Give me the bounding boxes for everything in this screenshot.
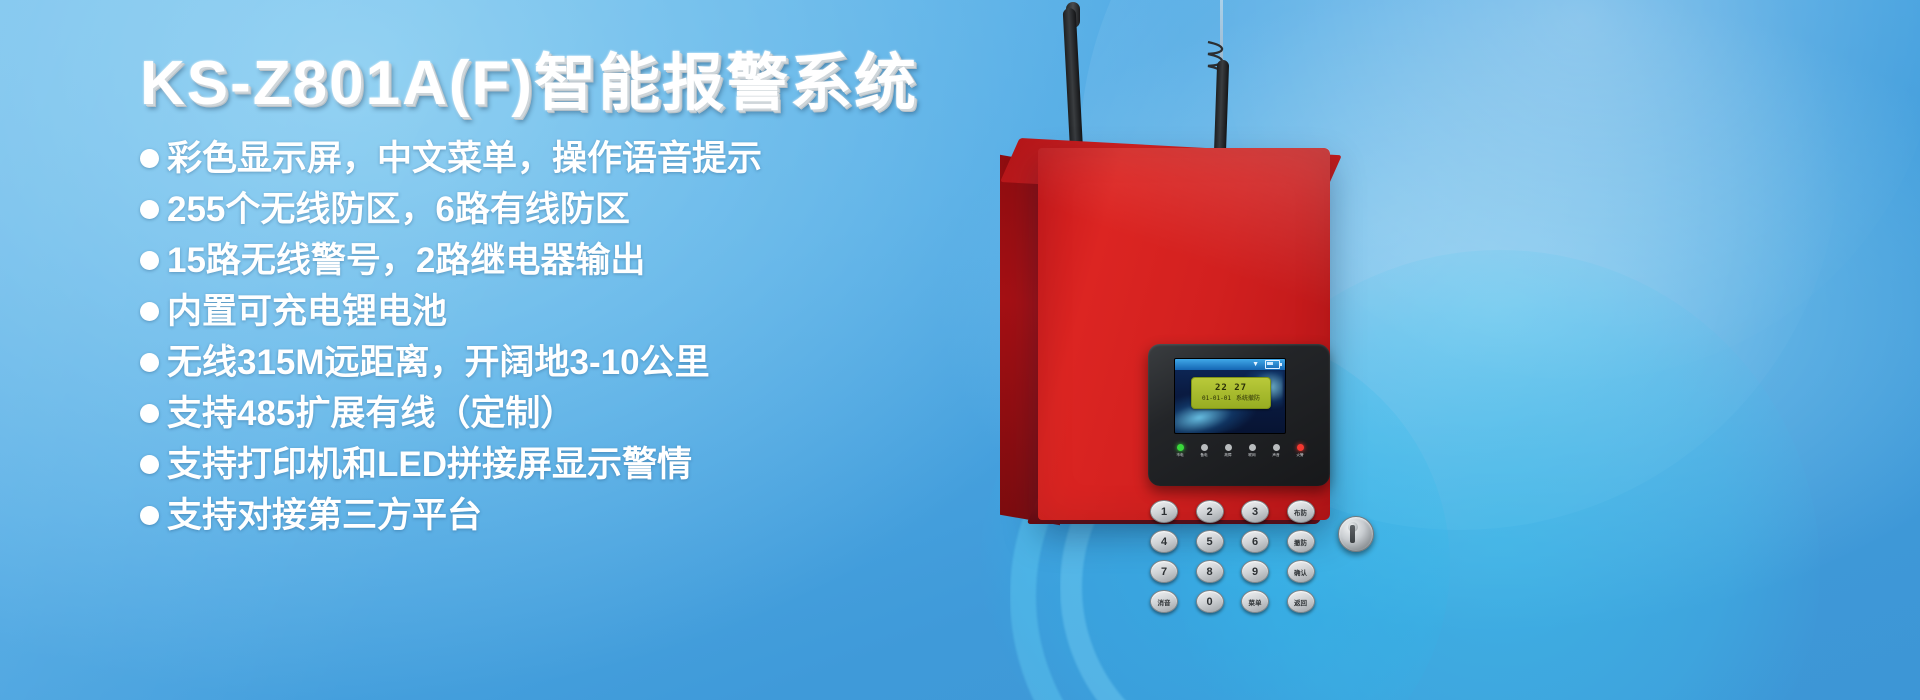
list-item: 255个无线防区，6路有线防区 (140, 192, 970, 227)
lcd-time: 22 27 (1215, 384, 1247, 393)
lcd-status-text: 系统撤防 (1236, 396, 1260, 402)
led-label: 备电 (1200, 454, 1207, 458)
led-indicator: 声音 (1266, 444, 1286, 458)
keypad-key-2[interactable]: 2 (1196, 500, 1224, 523)
led-label: 联网 (1248, 454, 1255, 458)
lock-keyhole-icon (1348, 522, 1358, 532)
led-network-icon (1249, 444, 1256, 451)
keypad-key-6[interactable]: 6 (1241, 530, 1269, 553)
signal-icon: ▼ (1252, 361, 1259, 368)
led-label: 市电 (1176, 454, 1183, 458)
bullet-dot-icon (140, 251, 159, 270)
lcd-wallpaper-swirl (1174, 376, 1269, 434)
keypad-key-confirm[interactable]: 确认 (1287, 560, 1315, 583)
keypad-key-arm[interactable]: 布防 (1287, 500, 1315, 523)
led-indicator: 联网 (1242, 444, 1262, 458)
list-item: 支持485扩展有线（定制） (140, 396, 970, 431)
bullet-dot-icon (140, 353, 159, 372)
lcd-wallpaper-swirl-secondary (1239, 371, 1283, 411)
banner-text-column: KS-Z801A(F)智能报警系统 彩色显示屏，中文菜单，操作语音提示 255个… (140, 48, 970, 549)
keypad-key-4[interactable]: 4 (1150, 530, 1178, 553)
keypad-key-7[interactable]: 7 (1150, 560, 1178, 583)
led-fault-icon (1225, 444, 1232, 451)
list-item: 支持打印机和LED拼接屏显示警情 (140, 447, 970, 482)
feature-text: 支持对接第三方平台 (167, 498, 482, 533)
bullet-dot-icon (140, 455, 159, 474)
list-item: 无线315M远距离，开阔地3-10公里 (140, 345, 970, 380)
feature-list: 彩色显示屏，中文菜单，操作语音提示 255个无线防区，6路有线防区 15路无线警… (140, 141, 970, 533)
feature-text: 彩色显示屏，中文菜单，操作语音提示 (167, 141, 762, 176)
keypad-key-disarm[interactable]: 撤防 (1287, 530, 1315, 553)
lcd-screen[interactable]: ▼ 22 27 01-01-01 系统撤防 (1174, 358, 1286, 434)
led-fire-alarm-icon (1297, 444, 1304, 451)
led-label: 声音 (1272, 454, 1279, 458)
bullet-dot-icon (140, 200, 159, 219)
led-label: 火警 (1296, 454, 1303, 458)
cabinet-front-panel: ▼ 22 27 01-01-01 系统撤防 市电 (1038, 148, 1330, 520)
feature-text: 支持打印机和LED拼接屏显示警情 (167, 447, 692, 482)
list-item: 彩色显示屏，中文菜单，操作语音提示 (140, 141, 970, 176)
led-mains-icon (1177, 444, 1184, 451)
feature-text: 15路无线警号，2路继电器输出 (167, 243, 645, 278)
led-sound-icon (1273, 444, 1280, 451)
led-backup-icon (1201, 444, 1208, 451)
list-item: 15路无线警号，2路继电器输出 (140, 243, 970, 278)
keypad-key-0[interactable]: 0 (1196, 590, 1224, 613)
keypad[interactable]: 1 2 3 布防 4 5 6 撤防 7 8 9 确认 消音 0 菜单 返回 (1150, 500, 1322, 613)
lcd-date: 01-01-01 (1202, 396, 1231, 402)
product-image-alarm-panel: ▼ 22 27 01-01-01 系统撤防 市电 (960, 0, 1920, 700)
feature-text: 内置可充电锂电池 (167, 294, 447, 329)
keypad-key-back[interactable]: 返回 (1287, 590, 1315, 613)
led-indicator: 火警 (1290, 444, 1310, 458)
keypad-key-9[interactable]: 9 (1241, 560, 1269, 583)
led-indicator-row: 市电 备电 故障 联网 (1170, 444, 1310, 458)
lcd-status-bar: ▼ (1175, 359, 1285, 370)
lock-cylinder-icon[interactable] (1338, 516, 1374, 552)
keypad-key-8[interactable]: 8 (1196, 560, 1224, 583)
lcd-info-row: 01-01-01 系统撤防 (1202, 396, 1260, 402)
keypad-key-3[interactable]: 3 (1241, 500, 1269, 523)
keypad-key-mute[interactable]: 消音 (1150, 590, 1178, 613)
page-title: KS-Z801A(F)智能报警系统 (140, 48, 970, 119)
led-indicator: 备电 (1194, 444, 1214, 458)
bullet-dot-icon (140, 302, 159, 321)
banner-stage: KS-Z801A(F)智能报警系统 彩色显示屏，中文菜单，操作语音提示 255个… (0, 0, 1920, 700)
keypad-key-5[interactable]: 5 (1196, 530, 1224, 553)
led-indicator: 市电 (1170, 444, 1190, 458)
list-item: 内置可充电锂电池 (140, 294, 970, 329)
feature-text: 255个无线防区，6路有线防区 (167, 192, 630, 227)
feature-text: 支持485扩展有线（定制） (167, 396, 575, 431)
battery-icon (1265, 360, 1280, 369)
keypad-key-1[interactable]: 1 (1150, 500, 1178, 523)
led-indicator: 故障 (1218, 444, 1238, 458)
display-module: ▼ 22 27 01-01-01 系统撤防 市电 (1148, 344, 1330, 486)
bullet-dot-icon (140, 404, 159, 423)
keypad-key-menu[interactable]: 菜单 (1241, 590, 1269, 613)
bullet-dot-icon (140, 506, 159, 525)
led-label: 故障 (1224, 454, 1231, 458)
lcd-info-card: 22 27 01-01-01 系统撤防 (1191, 377, 1271, 409)
bullet-dot-icon (140, 149, 159, 168)
feature-text: 无线315M远距离，开阔地3-10公里 (167, 345, 710, 380)
list-item: 支持对接第三方平台 (140, 498, 970, 533)
